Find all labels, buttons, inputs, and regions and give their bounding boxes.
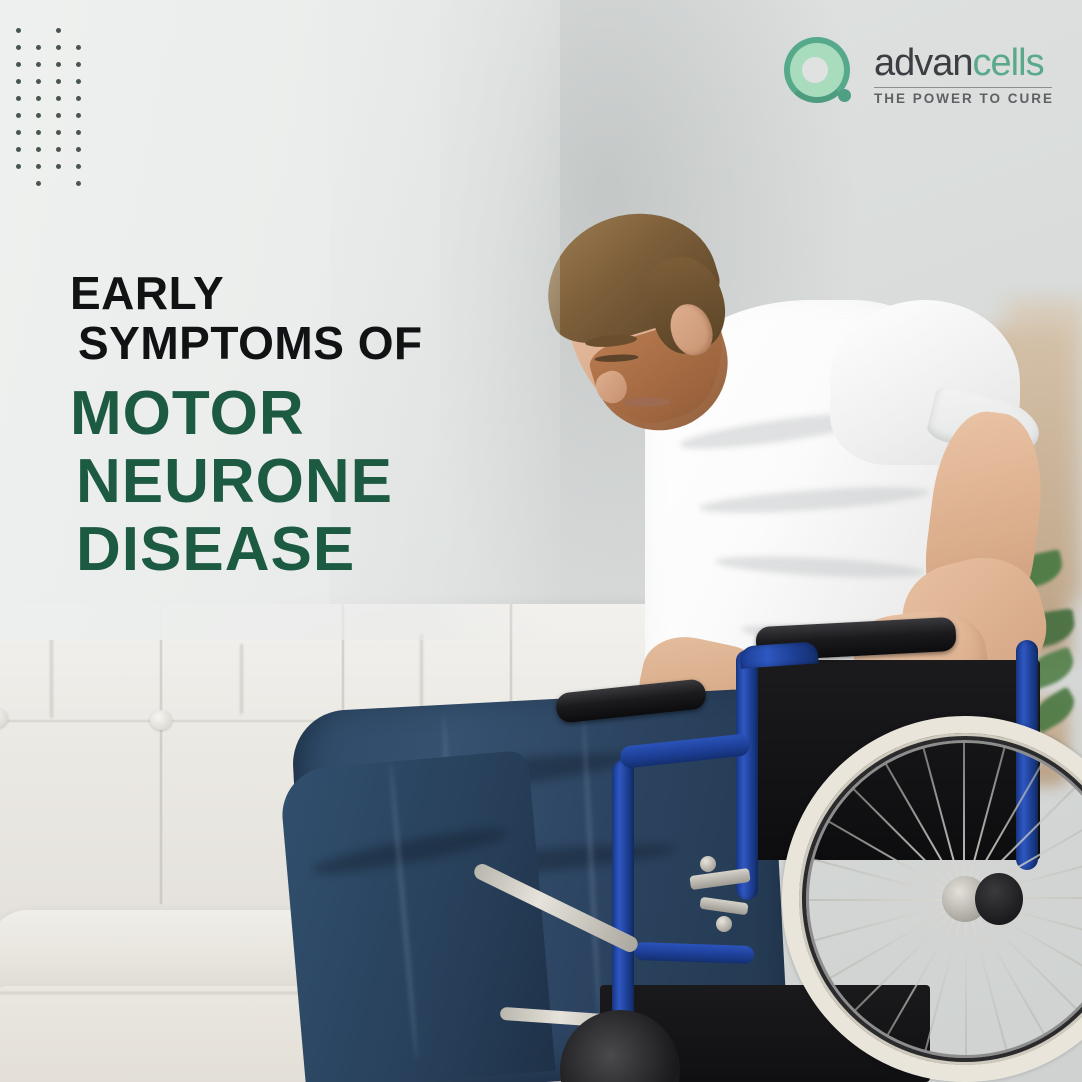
logo-wordmark: advancells THE POWER TO CURE <box>874 43 1054 106</box>
frame-tube-horizontal <box>619 733 751 768</box>
advancells-circle-icon <box>782 35 860 113</box>
logo-word-advan: advan <box>874 42 973 84</box>
headline-line-disease: DISEASE <box>70 516 500 584</box>
frame-crossbar <box>634 942 755 964</box>
logo-word-cells: cells <box>973 42 1044 84</box>
wheel-brake-arm <box>699 897 748 916</box>
headline-block: EARLY SYMPTOMS OF MOTOR NEURONE DISEASE <box>70 268 500 584</box>
logo-tagline: THE POWER TO CURE <box>874 91 1054 106</box>
wheel-hub-cap <box>975 873 1023 925</box>
logo-inner-notch <box>802 57 828 83</box>
headline-line-motor: MOTOR <box>70 380 500 448</box>
headline-line-neurone: NEURONE <box>70 448 500 516</box>
poster-canvas: EARLY SYMPTOMS OF MOTOR NEURONE DISEASE … <box>0 0 1082 1082</box>
headline-subtitle: EARLY SYMPTOMS OF <box>70 268 500 368</box>
wheelchair-armrest-left <box>555 678 707 724</box>
dot-grid-decoration <box>16 28 96 178</box>
logo-accent-dot <box>838 89 851 102</box>
headline-title: MOTOR NEURONE DISEASE <box>70 380 500 584</box>
wheelchair-rear-wheel <box>782 716 1082 1082</box>
brand-logo[interactable]: advancells THE POWER TO CURE <box>782 28 1060 120</box>
headline-line-symptoms-of: SYMPTOMS OF <box>70 318 500 368</box>
logo-brand-name: advancells <box>874 43 1054 83</box>
headline-line-early: EARLY <box>70 268 500 318</box>
logo-divider <box>874 87 1052 88</box>
frame-tube-vertical-left <box>736 650 758 900</box>
